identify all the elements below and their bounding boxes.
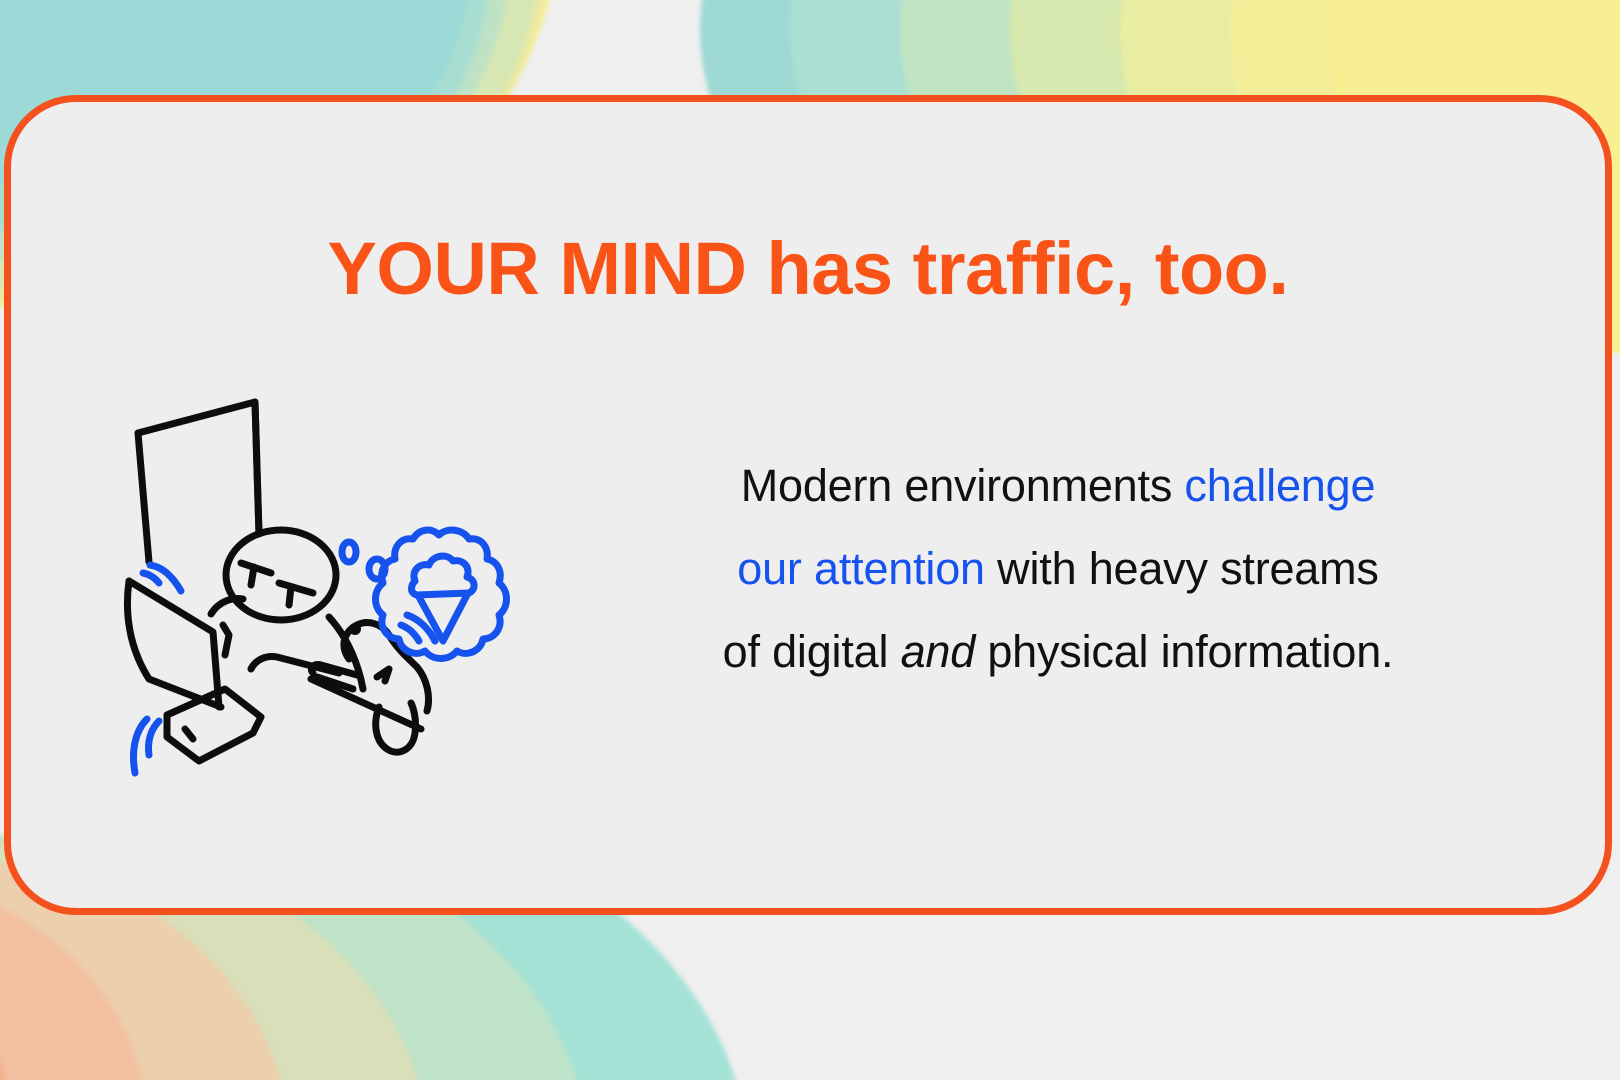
motion-arc-dog-2 — [401, 625, 419, 641]
phone-icon — [167, 689, 261, 761]
body-copy: Modern environments challenge our attent… — [611, 445, 1505, 693]
body-text-normal: with heavy streams — [985, 543, 1379, 594]
illustration-column — [11, 357, 611, 777]
motion-arc-laptop-2 — [143, 573, 159, 583]
ice-cream-icon — [412, 556, 475, 641]
content-card: YOUR MIND has traffic, too. — [4, 95, 1612, 915]
signal-wave-inner — [148, 721, 159, 755]
body-copy-line-1: Modern environments challenge — [611, 445, 1505, 528]
page-title: YOUR MIND has traffic, too. — [11, 232, 1605, 306]
copy-column: Modern environments challenge our attent… — [611, 357, 1605, 693]
signal-wave-outer — [134, 719, 148, 773]
body-text-italic: and — [901, 626, 975, 677]
slide-canvas: YOUR MIND has traffic, too. — [0, 0, 1620, 1080]
thought-dot-small — [342, 542, 356, 562]
body-text-highlight: our attention — [737, 543, 985, 594]
head-shape — [226, 530, 336, 620]
body-text-normal: Modern environments — [741, 460, 1185, 511]
tired-eyes-icon — [241, 563, 313, 605]
person-at-laptop-doodle-icon — [101, 377, 521, 777]
blob-bottom-left-6 — [0, 900, 10, 1080]
card-body: Modern environments challenge our attent… — [11, 357, 1605, 787]
body-text-normal: physical information. — [975, 626, 1393, 677]
body-text-highlight: challenge — [1184, 460, 1375, 511]
body-text-normal: of digital — [723, 626, 901, 677]
dog-eye — [349, 623, 361, 635]
body-copy-line-3: of digital and physical information. — [611, 611, 1505, 694]
body-copy-line-2: our attention with heavy streams — [611, 528, 1505, 611]
